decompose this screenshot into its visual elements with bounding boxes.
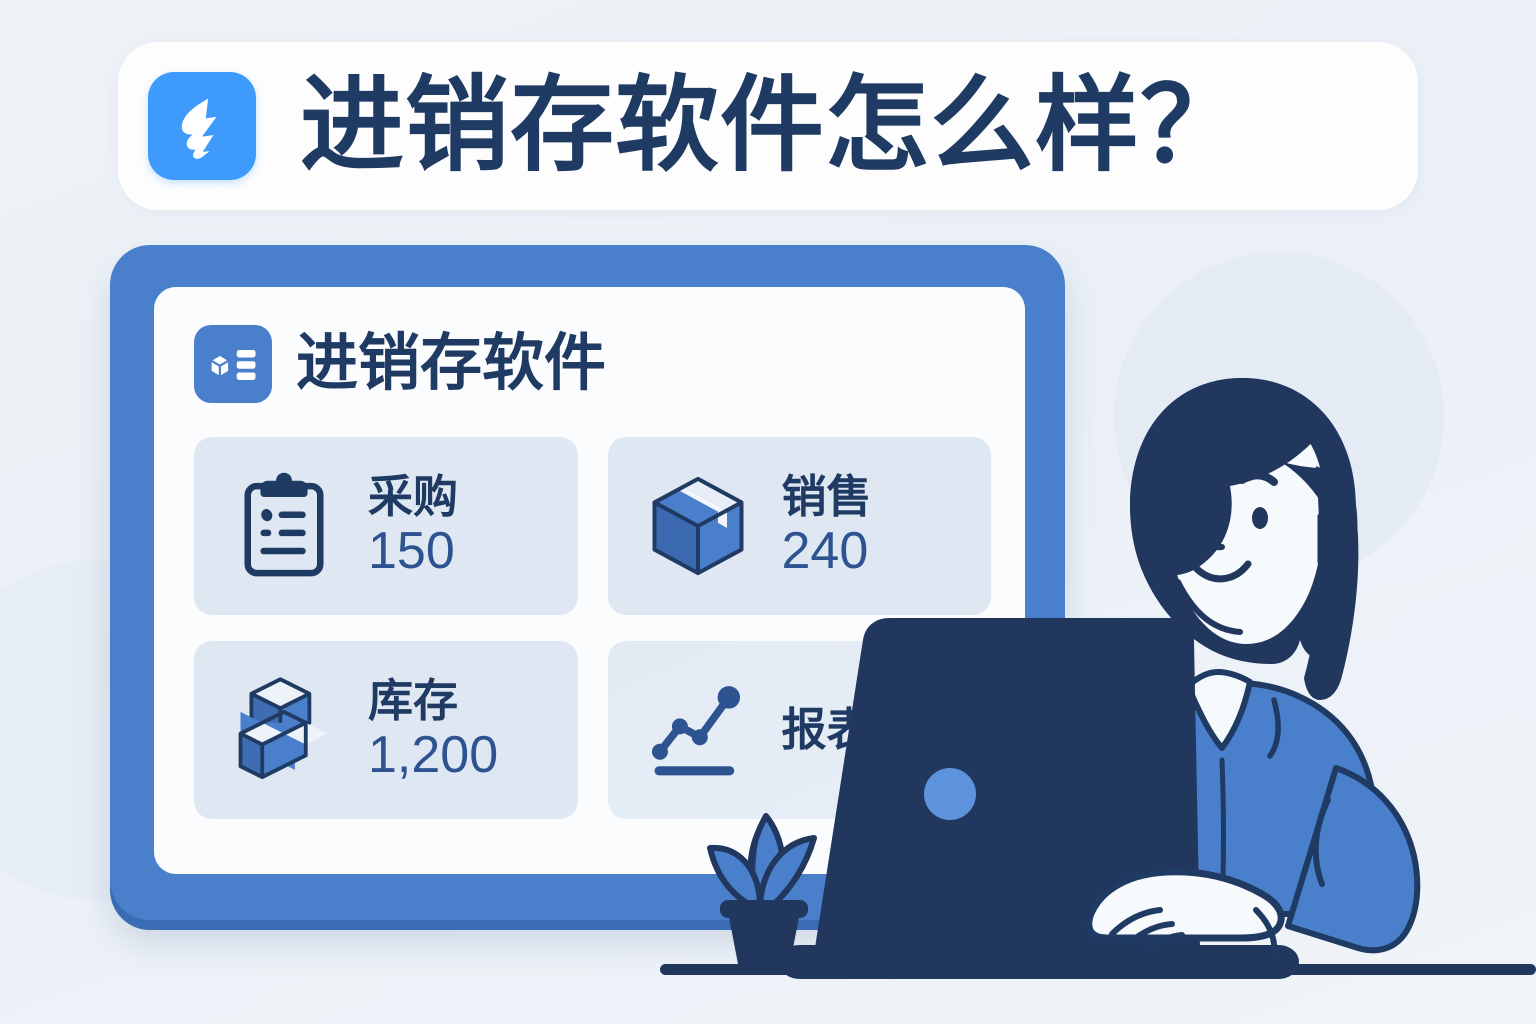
dingtalk-wing-icon bbox=[148, 72, 256, 180]
clipboard-icon bbox=[226, 468, 342, 584]
header-banner: 进销存软件怎么样？ bbox=[118, 42, 1418, 210]
inventory-box-list-icon bbox=[194, 325, 272, 403]
stat-card-inventory[interactable]: 库存 1,200 bbox=[194, 641, 578, 819]
stat-label: 库存 bbox=[368, 676, 498, 726]
stacked-boxes-icon bbox=[226, 672, 342, 788]
stat-value: 1,200 bbox=[368, 726, 498, 784]
poster-canvas: 进销存软件怎么样？ 进销存软件 bbox=[0, 0, 1536, 1024]
app-title: 进销存软件 bbox=[296, 333, 606, 395]
stat-label: 采购 bbox=[368, 472, 458, 522]
stat-value: 150 bbox=[368, 522, 458, 580]
illustration-woman-working bbox=[660, 330, 1536, 1024]
stat-card-purchase[interactable]: 采购 150 bbox=[194, 437, 578, 615]
laptop-logo-dot bbox=[924, 768, 976, 820]
page-title: 进销存软件怎么样？ bbox=[300, 74, 1245, 178]
